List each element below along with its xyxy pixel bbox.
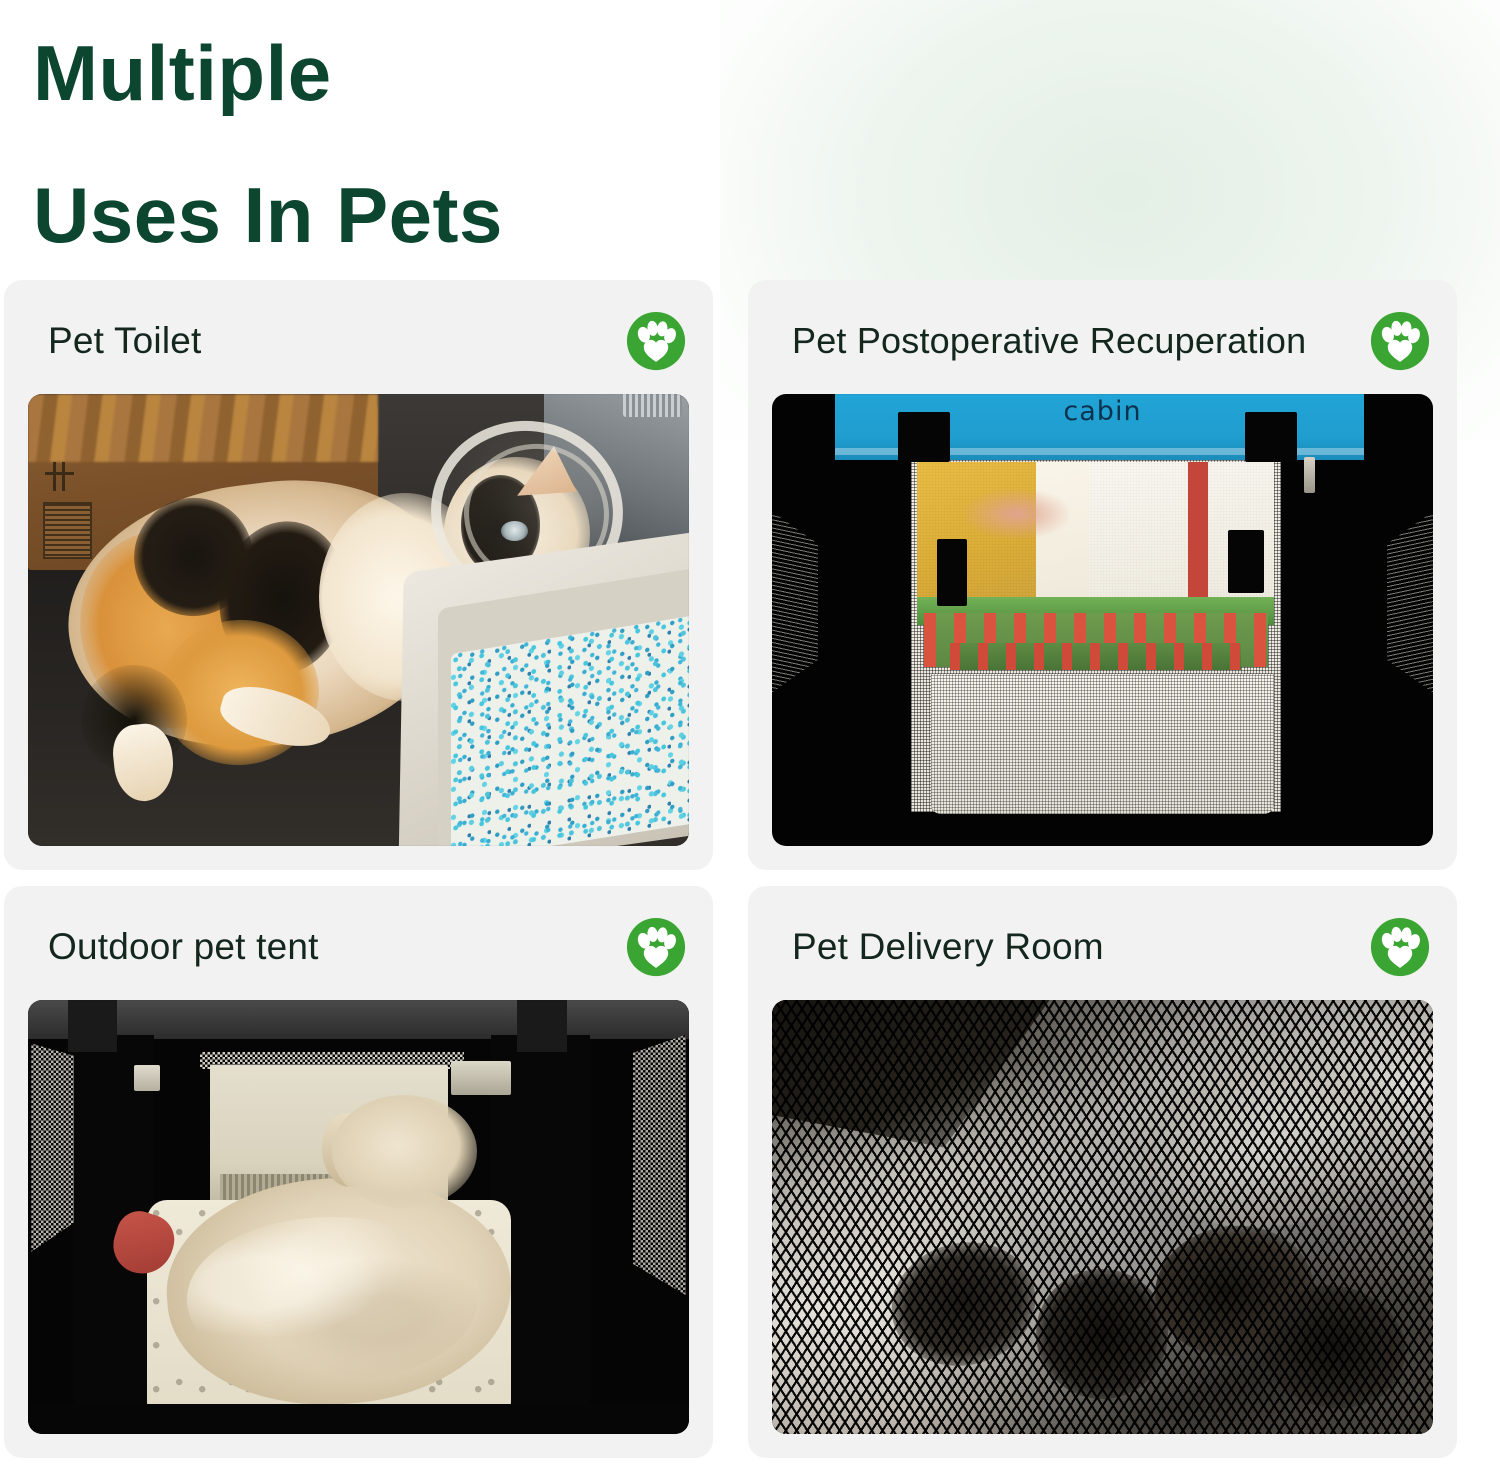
card-title: Pet Toilet [48,321,202,362]
card-photo [772,1000,1433,1434]
card-photo: cabin [772,394,1433,846]
page-title: Multiple Uses In Pets [33,2,853,286]
use-case-card-pet-delivery-room[interactable]: Pet Delivery Room [748,886,1457,1458]
use-case-card-outdoor-pet-tent[interactable]: Outdoor pet tent [4,886,713,1458]
page-title-line-2: Uses In Pets [33,144,853,286]
paw-icon [625,310,687,372]
card-title: Outdoor pet tent [48,927,319,968]
card-header: Pet Toilet [28,302,689,380]
paw-icon [1369,916,1431,978]
card-header: Pet Delivery Room [772,908,1433,986]
card-photo [28,394,689,846]
pet-uses-page: Multiple Uses In Pets Pet Toilet [0,0,1500,1468]
use-case-card-pet-postoperative-recuperation[interactable]: Pet Postoperative Recuperation [748,280,1457,870]
paw-icon [625,916,687,978]
card-photo [28,1000,689,1434]
card-header: Pet Postoperative Recuperation [772,302,1433,380]
use-case-grid: Pet Toilet [4,280,1496,1458]
card-title: Pet Delivery Room [792,927,1104,968]
card-title: Pet Postoperative Recuperation [792,321,1306,361]
page-title-line-1: Multiple [33,2,853,144]
carrier-brand-text: cabin [772,396,1433,427]
paw-icon [1369,310,1431,372]
card-header: Outdoor pet tent [28,908,689,986]
use-case-card-pet-toilet[interactable]: Pet Toilet [4,280,713,870]
